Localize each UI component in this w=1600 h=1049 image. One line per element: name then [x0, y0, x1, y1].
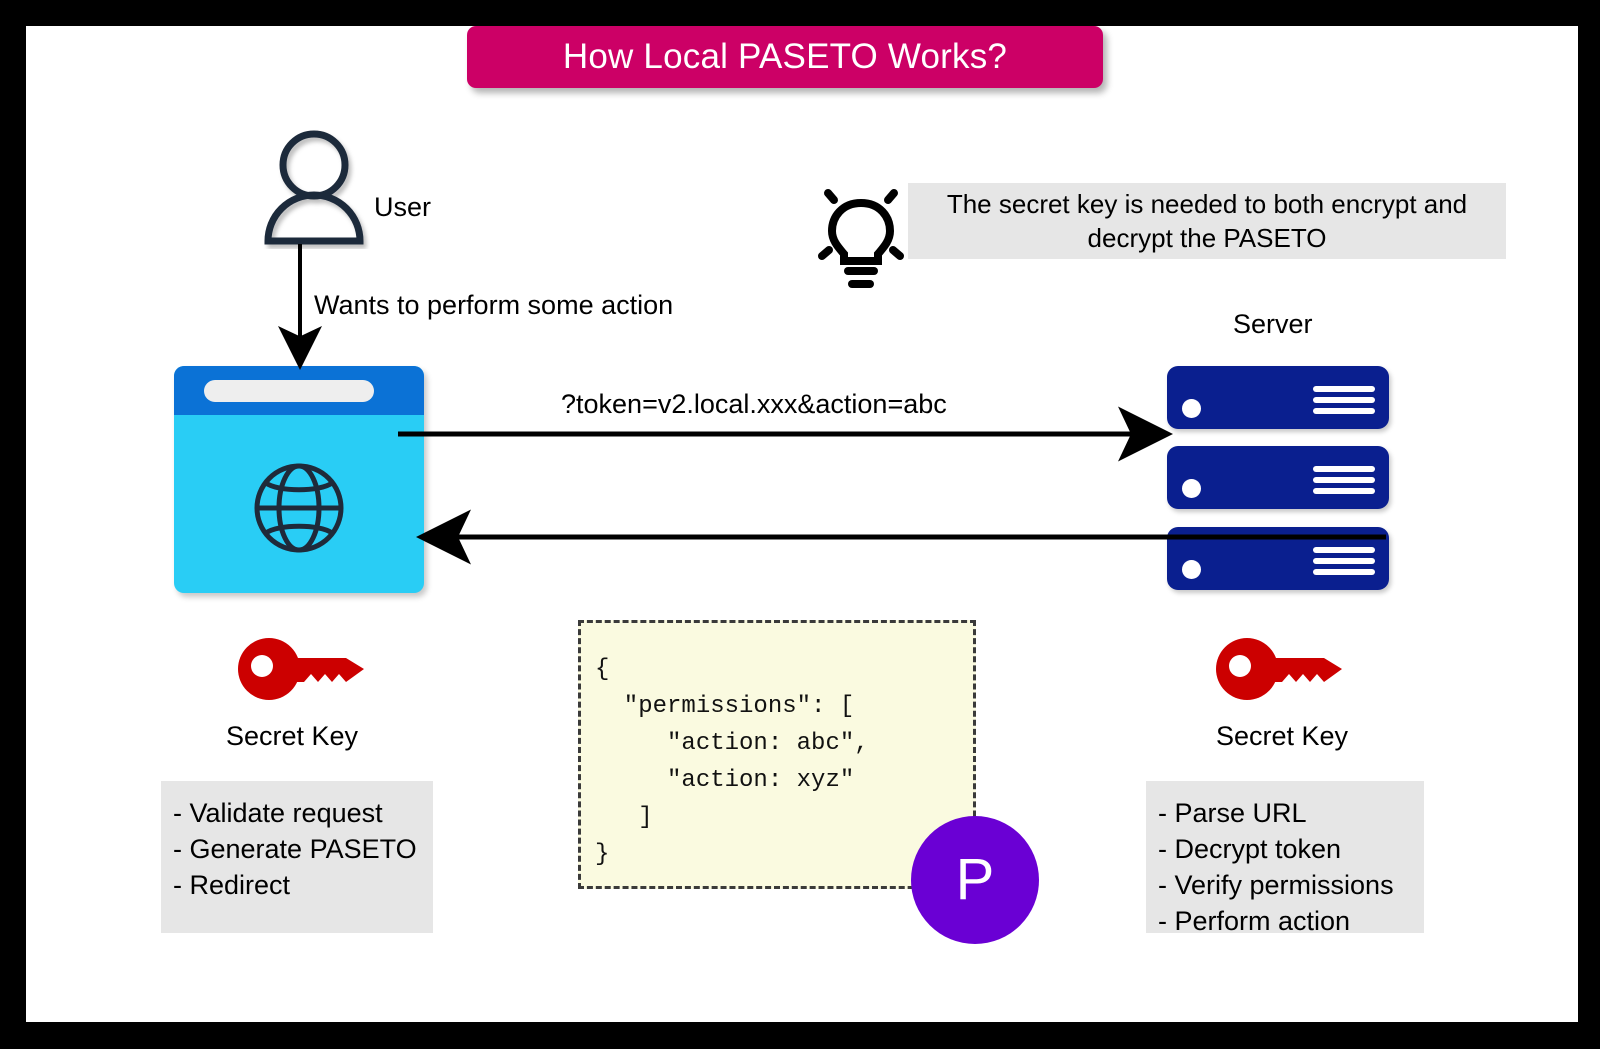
hint-callout-box: The secret key is needed to both encrypt… — [908, 183, 1506, 259]
note-line: - Decrypt token — [1158, 831, 1412, 867]
note-line: - Parse URL — [1158, 795, 1412, 831]
browser-to-server-label: ?token=v2.local.xxx&action=abc — [561, 389, 947, 420]
lightbulb-icon — [806, 181, 916, 296]
server-vent-lines — [1313, 547, 1375, 580]
diagram-canvas: How Local PASETO Works? User — [26, 26, 1578, 1022]
note-line: - Redirect — [173, 867, 421, 903]
browser-responsibilities-box: - Validate request - Generate PASETO - R… — [161, 781, 433, 933]
note-line: - Validate request — [173, 795, 421, 831]
server-vent-lines — [1313, 466, 1375, 499]
note-line: - Verify permissions — [1158, 867, 1412, 903]
user-icon — [260, 129, 370, 249]
server-vent-lines — [1313, 386, 1375, 419]
server-responsibilities-box: - Parse URL - Decrypt token - Verify per… — [1146, 781, 1424, 933]
hint-text: The secret key is needed to both encrypt… — [908, 187, 1506, 255]
note-line: - Perform action — [1158, 903, 1412, 939]
paseto-badge-letter: P — [956, 851, 995, 909]
secret-key-label-right: Secret Key — [1216, 721, 1348, 752]
user-to-browser-label: Wants to perform some action — [314, 290, 673, 321]
server-status-dot — [1182, 479, 1201, 498]
browser-address-bar[interactable] — [204, 380, 374, 402]
globe-icon — [252, 461, 346, 555]
note-line: - Generate PASETO — [173, 831, 421, 867]
server-unit[interactable] — [1167, 527, 1389, 590]
server-status-dot — [1182, 399, 1201, 418]
secret-key-label-left: Secret Key — [226, 721, 358, 752]
token-payload-box: { "permissions": [ "action: abc", "actio… — [578, 620, 976, 889]
browser-window-icon[interactable] — [174, 366, 424, 593]
diagram-frame: How Local PASETO Works? User — [0, 0, 1600, 1049]
server-status-dot — [1182, 560, 1201, 579]
page-title: How Local PASETO Works? — [563, 37, 1007, 77]
server-unit[interactable] — [1167, 366, 1389, 429]
diagram-title-banner: How Local PASETO Works? — [467, 26, 1103, 88]
paseto-badge: P — [911, 816, 1039, 944]
key-icon — [1216, 638, 1346, 700]
server-unit[interactable] — [1167, 446, 1389, 509]
token-payload-code: { "permissions": [ "action: abc", "actio… — [595, 651, 973, 873]
server-label: Server — [1233, 309, 1313, 340]
user-label: User — [374, 192, 431, 223]
key-icon — [238, 638, 368, 700]
